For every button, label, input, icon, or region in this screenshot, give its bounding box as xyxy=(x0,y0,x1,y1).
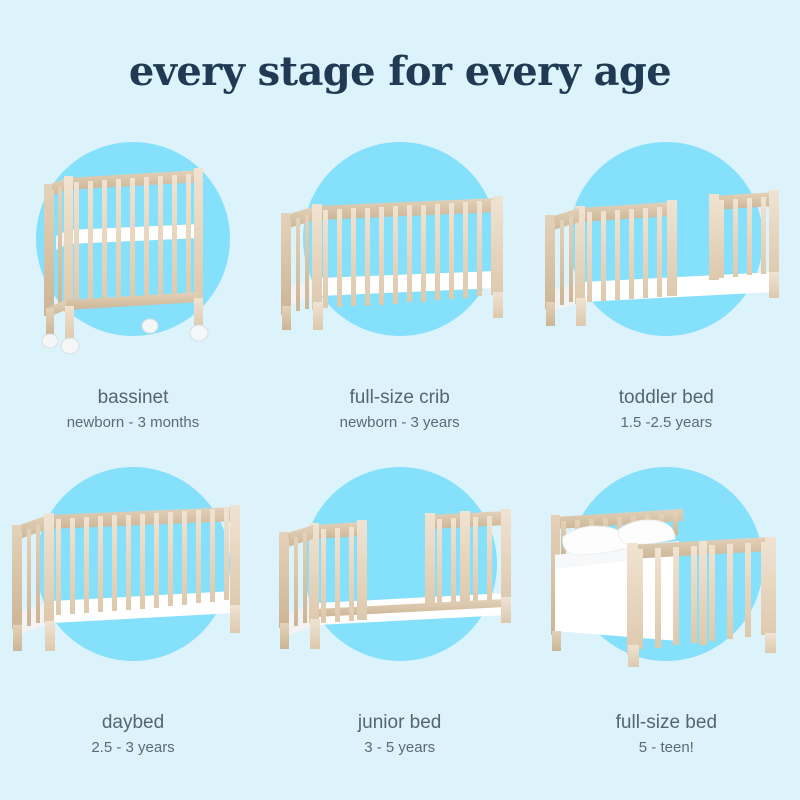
stage-caption: junior bed 3 - 5 years xyxy=(267,710,533,758)
stage-name: junior bed xyxy=(267,710,533,736)
stage-card-bassinet[interactable]: bassinet newborn - 3 months xyxy=(0,120,266,445)
full-size-crib-illustration xyxy=(267,120,533,375)
stage-ages: newborn - 3 years xyxy=(267,413,533,433)
stage-card-daybed[interactable]: daybed 2.5 - 3 years xyxy=(0,445,266,770)
stage-name: daybed xyxy=(0,710,266,736)
stage-caption: full-size crib newborn - 3 years xyxy=(267,385,533,433)
stage-ages: 2.5 - 3 years xyxy=(0,738,266,758)
stage-caption: full-size bed 5 - teen! xyxy=(533,710,799,758)
stage-name: toddler bed xyxy=(533,385,799,411)
stage-caption: daybed 2.5 - 3 years xyxy=(0,710,266,758)
stage-grid: bassinet newborn - 3 months xyxy=(0,120,800,770)
full-size-bed-illustration xyxy=(533,445,799,700)
page-title: every stage for every age xyxy=(0,52,800,92)
stage-ages: 1.5 -2.5 years xyxy=(533,413,799,433)
stage-caption: toddler bed 1.5 -2.5 years xyxy=(533,385,799,433)
stage-card-toddler-bed[interactable]: toddler bed 1.5 -2.5 years xyxy=(533,120,799,445)
stage-card-full-size-crib[interactable]: full-size crib newborn - 3 years xyxy=(267,120,533,445)
stage-name: bassinet xyxy=(0,385,266,411)
stage-caption: bassinet newborn - 3 months xyxy=(0,385,266,433)
stage-name: full-size bed xyxy=(533,710,799,736)
toddler-bed-illustration xyxy=(533,120,799,375)
stage-ages: newborn - 3 months xyxy=(0,413,266,433)
daybed-illustration xyxy=(0,445,266,700)
junior-bed-illustration xyxy=(267,445,533,700)
stage-name: full-size crib xyxy=(267,385,533,411)
stage-ages: 3 - 5 years xyxy=(267,738,533,758)
stage-card-junior-bed[interactable]: junior bed 3 - 5 years xyxy=(267,445,533,770)
bassinet-illustration xyxy=(0,120,266,375)
stage-card-full-size-bed[interactable]: full-size bed 5 - teen! xyxy=(533,445,799,770)
infographic-page: every stage for every age xyxy=(0,0,800,800)
stage-ages: 5 - teen! xyxy=(533,738,799,758)
